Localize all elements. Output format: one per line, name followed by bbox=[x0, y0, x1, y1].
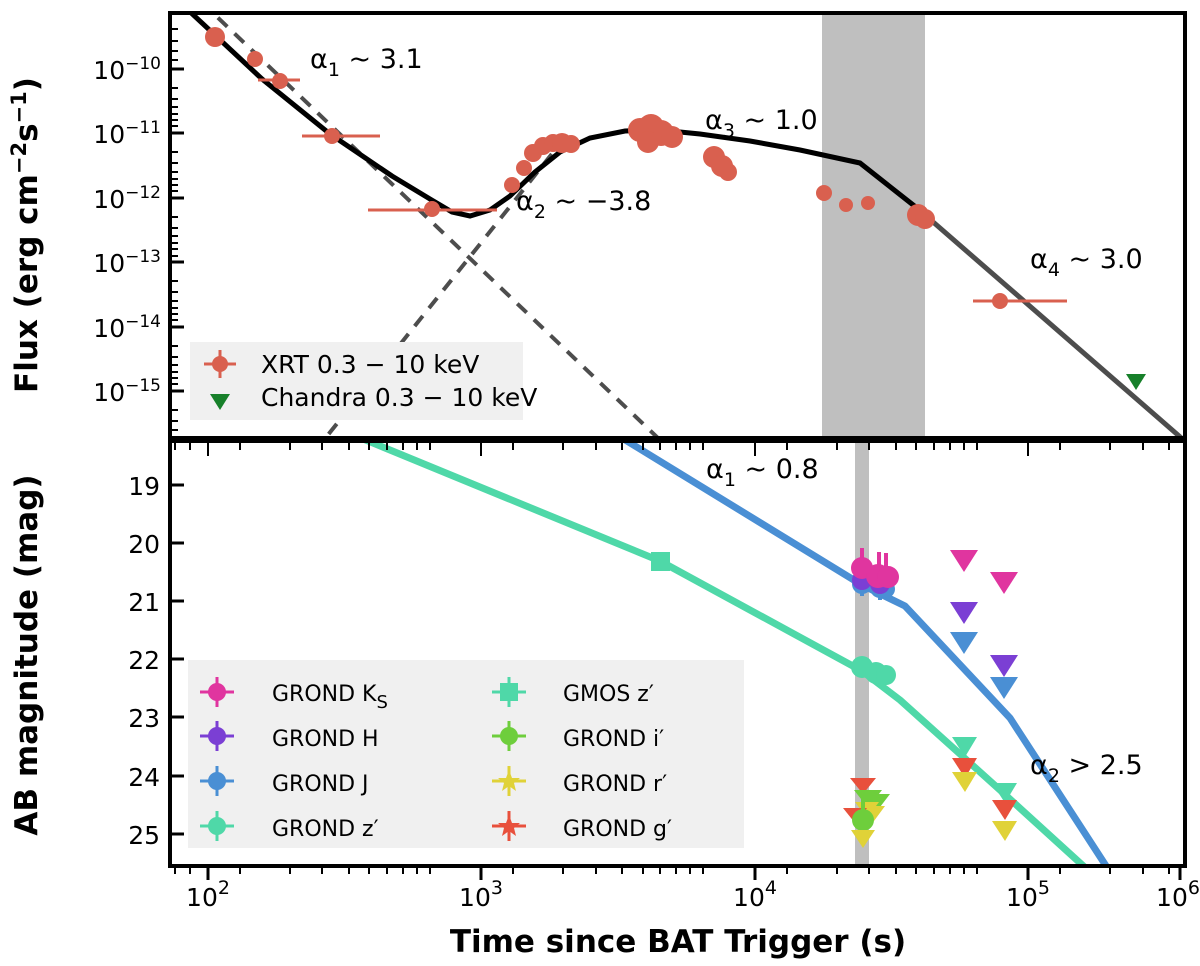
bottom-ytick-label-6: 25 bbox=[128, 821, 160, 850]
data-point bbox=[861, 196, 875, 210]
data-point bbox=[719, 163, 737, 181]
data-point bbox=[272, 73, 288, 89]
data-point bbox=[247, 51, 263, 67]
bottom-ytick-label-2: 21 bbox=[128, 588, 160, 617]
bottom-legend-label-grond-g: GROND g′ bbox=[563, 817, 672, 842]
bottom-legend-label-grond-j: GROND J bbox=[272, 772, 369, 797]
bottom-ytick-label-1: 20 bbox=[128, 530, 160, 559]
top-legend-label-xrt: XRT 0.3 − 10 keV bbox=[261, 350, 479, 379]
grond-h-legend-marker-icon bbox=[208, 727, 226, 745]
bottom-ytick-label-0: 19 bbox=[128, 472, 160, 501]
data-point bbox=[324, 128, 340, 144]
bottom-legend-label-grond-r: GROND r′ bbox=[563, 772, 667, 797]
data-point bbox=[992, 293, 1008, 309]
bottom-ytick-label-4: 23 bbox=[128, 704, 160, 733]
data-point bbox=[424, 201, 440, 217]
gmos-z-point bbox=[651, 552, 670, 571]
data-point bbox=[562, 135, 580, 153]
bottom-ytick-label-3: 22 bbox=[128, 646, 160, 675]
top-shaded-band bbox=[822, 13, 925, 438]
bottom-legend-label-grond-z: GROND z′ bbox=[272, 817, 379, 842]
data-point bbox=[877, 566, 899, 588]
bottom-legend-label-grond-h: GROND H bbox=[272, 727, 379, 752]
data-point bbox=[839, 198, 853, 212]
gmos-z-legend-marker-icon bbox=[500, 683, 518, 701]
top-panel-legend[interactable]: XRT 0.3 − 10 keV Chandra 0.3 − 10 keV bbox=[190, 342, 537, 420]
data-point bbox=[876, 665, 896, 685]
xaxis-label: Time since BAT Trigger (s) bbox=[450, 924, 906, 960]
grond-j-legend-marker-icon bbox=[208, 772, 226, 790]
grond-z-legend-marker-icon bbox=[208, 817, 226, 835]
figure-root: 10−10 10−11 10−12 10−13 10−14 10−15 Flux… bbox=[0, 0, 1200, 966]
data-point bbox=[852, 809, 874, 831]
bottom-legend-label-grond-i: GROND i′ bbox=[563, 727, 664, 752]
data-point bbox=[516, 160, 532, 176]
grond-i-legend-marker-icon bbox=[500, 727, 518, 745]
top-legend-label-chandra: Chandra 0.3 − 10 keV bbox=[261, 383, 537, 412]
figure-svg: 10−10 10−11 10−12 10−13 10−14 10−15 Flux… bbox=[0, 0, 1200, 966]
top-panel-ylabel: Flux (erg cm−2s−1) bbox=[7, 77, 45, 393]
grond-ks-legend-marker-icon bbox=[208, 683, 226, 701]
bottom-panel-ylabel: AB magnitude (mag) bbox=[9, 474, 45, 835]
data-point bbox=[816, 185, 832, 201]
data-point bbox=[915, 209, 935, 229]
bottom-legend-label-gmos-z: GMOS z′ bbox=[563, 682, 654, 707]
bottom-panel-legend[interactable]: GROND KS GROND H GROND J bbox=[188, 660, 744, 848]
data-point bbox=[637, 131, 659, 153]
data-point bbox=[661, 126, 683, 148]
xrt-legend-marker-icon bbox=[212, 356, 228, 372]
data-point bbox=[205, 27, 225, 47]
bottom-ytick-label-5: 24 bbox=[128, 763, 160, 792]
